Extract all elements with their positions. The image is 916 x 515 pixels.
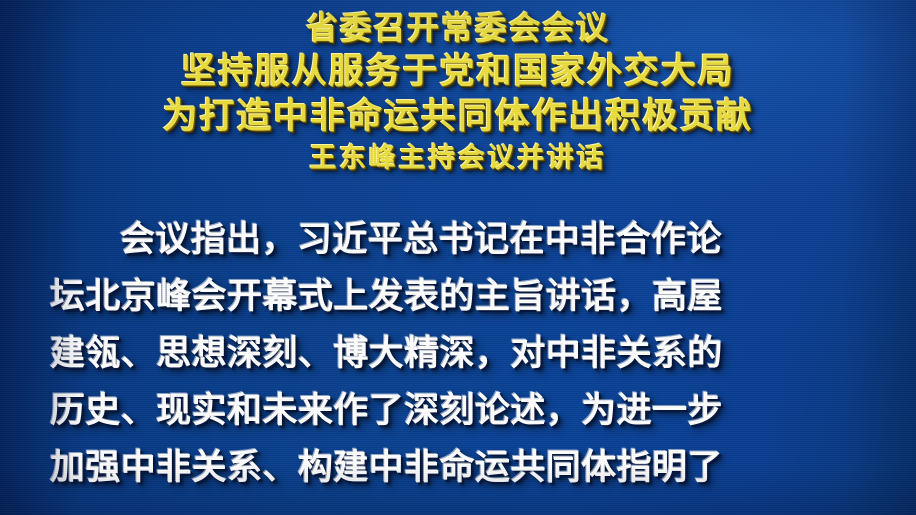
headline-line-3: 为打造中非命运共同体作出积极贡献 [0,95,916,140]
body-line-5: 加强中非关系、构建中非命运共同体指明了 [50,440,866,497]
headline-line-4: 王东峰主持会议并讲话 [0,140,916,178]
headline-line-2: 坚持服从服务于党和国家外交大局 [0,50,916,95]
headline-block: 省委召开常委会会议 坚持服从服务于党和国家外交大局 为打造中非命运共同体作出积极… [0,6,916,178]
headline-line-1: 省委召开常委会会议 [0,6,916,50]
body-line-1: 会议指出，习近平总书记在中非合作论 [50,212,866,269]
body-paragraph: 会议指出，习近平总书记在中非合作论 坛北京峰会开幕式上发表的主旨讲话，高屋 建瓴… [50,212,866,497]
broadcast-title-card: 省委召开常委会会议 坚持服从服务于党和国家外交大局 为打造中非命运共同体作出积极… [0,0,916,515]
body-line-2: 坛北京峰会开幕式上发表的主旨讲话，高屋 [50,269,866,326]
body-line-3: 建瓴、思想深刻、博大精深，对中非关系的 [50,326,866,383]
body-line-4: 历史、现实和未来作了深刻论述，为进一步 [50,383,866,440]
